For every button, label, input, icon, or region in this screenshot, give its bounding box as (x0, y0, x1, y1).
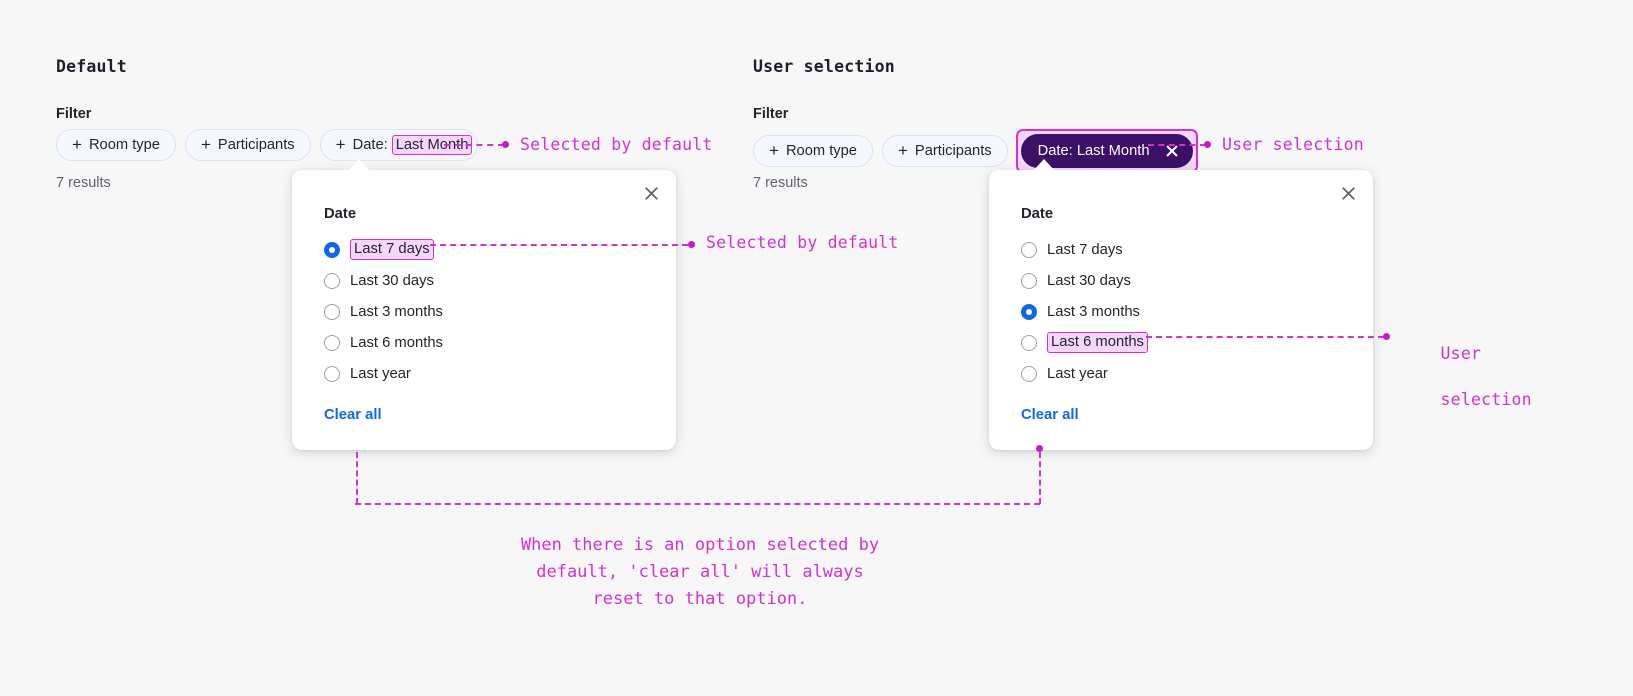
annotation-option-default: Selected by default (706, 231, 899, 254)
radio-icon[interactable] (1021, 242, 1037, 258)
caption-connector-horizontal (355, 503, 1040, 505)
chip-room-type-user-selection[interactable]: + Room type (753, 135, 873, 167)
clear-all-link-default[interactable]: Clear all (324, 407, 382, 423)
chip-label: Date: Last Month (1038, 143, 1150, 159)
radio-label: Last 7 days (1047, 242, 1123, 258)
radio-icon[interactable] (324, 242, 340, 258)
caption-text: When there is an option selected by defa… (400, 532, 1000, 613)
annotation-dot-option-user-selection (1383, 333, 1390, 340)
popover-heading: Date (324, 206, 646, 222)
annotation-dot-option-default (688, 241, 695, 248)
radio-option-last-7-days[interactable]: Last 7 days (1021, 234, 1343, 265)
radio-icon[interactable] (324, 366, 340, 382)
annotation-line-chip-user-selection (1148, 144, 1206, 146)
annotation-chip-user-selection: User selection (1222, 133, 1364, 156)
plus-icon: + (201, 136, 211, 153)
radio-option-last-3-months[interactable]: Last 3 months (324, 296, 646, 327)
date-popover-default: Date Last 7 days Last 30 days Last 3 mon… (292, 170, 676, 450)
chip-label: Participants (218, 137, 295, 153)
radio-label: Last 3 months (350, 304, 443, 320)
annotation-dot-chip-default (502, 141, 509, 148)
radio-label: Last 30 days (1047, 273, 1131, 289)
radio-label-highlight: Last 7 days (350, 239, 434, 260)
radio-icon[interactable] (1021, 335, 1037, 351)
radio-option-last-6-months[interactable]: Last 6 months (1021, 327, 1343, 358)
radio-label: Last 6 months (350, 335, 443, 351)
annotation-option-line2: selection (1441, 390, 1532, 409)
annotation-line-chip-default (444, 144, 504, 146)
annotation-dot-chip-user-selection (1204, 141, 1211, 148)
chip-participants-default[interactable]: + Participants (185, 129, 311, 161)
plus-icon: + (72, 136, 82, 153)
caption-connector-right-vertical (1039, 452, 1041, 504)
radio-icon[interactable] (1021, 273, 1037, 289)
radio-icon[interactable] (324, 304, 340, 320)
filter-chip-row-default: + Room type + Participants + Date: Last … (56, 129, 478, 161)
date-popover-user-selection: Date Last 7 days Last 30 days Last 3 mon… (989, 170, 1373, 450)
plus-icon: + (769, 142, 779, 159)
radio-option-last-7-days[interactable]: Last 7 days (324, 234, 646, 265)
radio-option-last-year[interactable]: Last year (1021, 358, 1343, 389)
radio-label: Last year (350, 366, 411, 382)
radio-label: Last 3 months (1047, 304, 1140, 320)
annotation-line-option-user-selection (1146, 336, 1384, 338)
chip-label: Room type (89, 137, 160, 153)
popover-close-button[interactable] (640, 182, 662, 204)
annotation-option-user-selection: User selection (1400, 319, 1532, 434)
clear-all-link-user-selection[interactable]: Clear all (1021, 407, 1079, 423)
radio-option-last-3-months[interactable]: Last 3 months (1021, 296, 1343, 327)
plus-icon: + (898, 142, 908, 159)
popover-heading: Date (1021, 206, 1343, 222)
caption-connector-left-vertical (356, 452, 358, 504)
close-icon (1341, 186, 1356, 201)
close-icon (1165, 144, 1179, 158)
results-count-user-selection: 7 results (753, 175, 808, 191)
results-count-default: 7 results (56, 175, 111, 191)
panel-title-user-selection: User selection (753, 57, 895, 76)
radio-option-last-year[interactable]: Last year (324, 358, 646, 389)
filter-label-user-selection: Filter (753, 106, 788, 122)
radio-option-last-30-days[interactable]: Last 30 days (1021, 265, 1343, 296)
radio-label-highlight: Last 6 months (1047, 332, 1148, 353)
radio-option-last-30-days[interactable]: Last 30 days (324, 265, 646, 296)
caption-connector-dot (1036, 445, 1043, 452)
radio-option-last-6-months[interactable]: Last 6 months (324, 327, 646, 358)
chip-label: Participants (915, 143, 992, 159)
annotation-option-line1: User (1441, 344, 1482, 363)
annotation-line-option-default (430, 244, 688, 246)
close-icon (644, 186, 659, 201)
radio-icon[interactable] (1021, 366, 1037, 382)
panel-title-default: Default (56, 57, 127, 76)
chip-label: Room type (786, 143, 857, 159)
radio-icon[interactable] (324, 273, 340, 289)
radio-icon[interactable] (1021, 304, 1037, 320)
annotation-canvas: Default Filter + Room type + Participant… (0, 0, 1633, 696)
radio-icon[interactable] (324, 335, 340, 351)
chip-room-type-default[interactable]: + Room type (56, 129, 176, 161)
popover-close-button[interactable] (1337, 182, 1359, 204)
radio-label: Last year (1047, 366, 1108, 382)
plus-icon: + (336, 136, 346, 153)
chip-label: Date: (353, 137, 388, 153)
radio-label: Last 30 days (350, 273, 434, 289)
filter-chip-row-user-selection: + Room type + Participants Date: Last Mo… (753, 129, 1198, 173)
annotation-chip-default: Selected by default (520, 133, 713, 156)
chip-participants-user-selection[interactable]: + Participants (882, 135, 1008, 167)
filter-label-default: Filter (56, 106, 91, 122)
